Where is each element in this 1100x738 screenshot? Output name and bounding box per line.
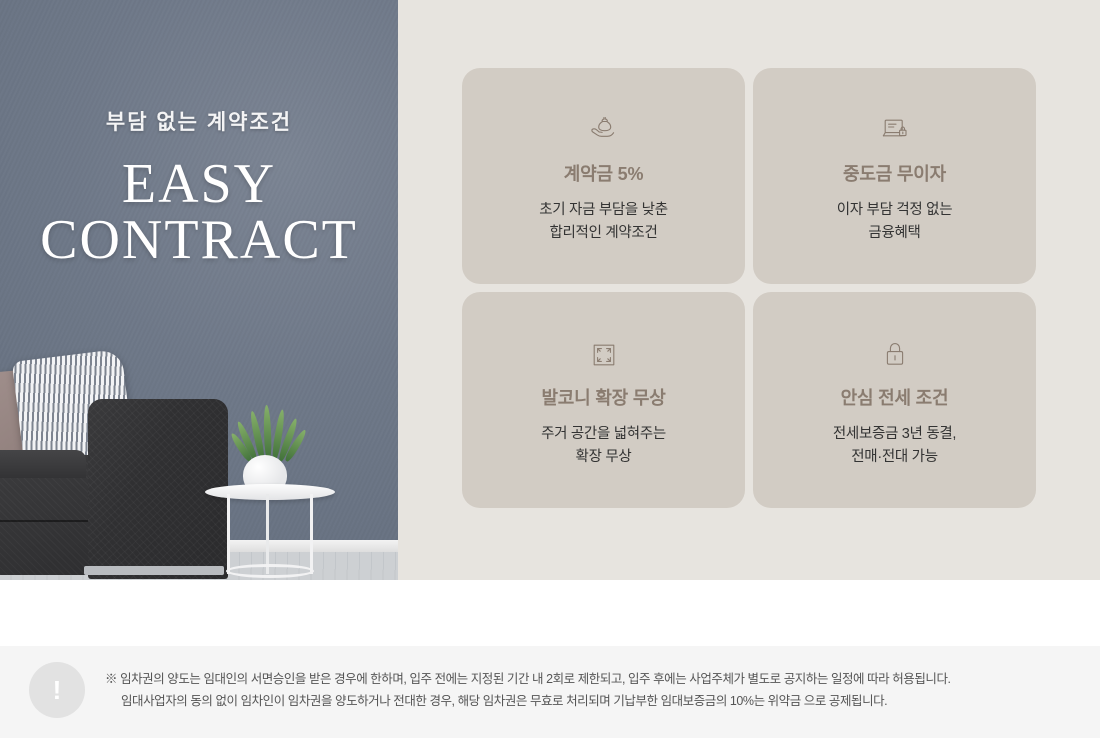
card-row: 발코니 확장 무상 주거 공간을 넓혀주는 확장 무상 안심 전: [462, 292, 1036, 508]
card-row: 계약금 5% 초기 자금 부담을 낮춘 합리적인 계약조건: [462, 68, 1036, 284]
laptop-lock-icon: [880, 114, 910, 144]
side-table-top: [205, 484, 335, 500]
disclaimer-text: ※ 임차권의 양도는 임대인의 서면승인을 받은 경우에 한하며, 입주 전에는…: [105, 668, 1065, 712]
hero-title-line2: CONTRACT: [0, 212, 398, 268]
feature-card-interest-free[interactable]: 중도금 무이자 이자 부담 걱정 없는 금융혜택: [753, 68, 1036, 284]
padlock-icon: [882, 338, 908, 368]
card-description: 전세보증금 3년 동결, 전매·전대 가능: [833, 423, 956, 469]
card-desc-line1: 초기 자금 부담을 낮춘: [539, 199, 668, 222]
expand-arrows-icon: [591, 338, 617, 368]
sofa-base: [84, 566, 224, 575]
card-description: 주거 공간을 넓혀주는 확장 무상: [541, 423, 666, 469]
feature-card-grid: 계약금 5% 초기 자금 부담을 낮춘 합리적인 계약조건: [462, 68, 1036, 508]
disclaimer-line-2: 임대사업자의 동의 없이 임차인이 임차권을 양도하거나 전대한 경우, 해당 …: [105, 690, 1065, 712]
hero-photo-panel: 부담 없는 계약조건 EASY CONTRACT: [0, 0, 398, 580]
money-bag-hand-icon: [589, 114, 619, 144]
card-desc-line2: 확장 무상: [541, 446, 666, 469]
card-desc-line1: 이자 부담 걱정 없는: [837, 199, 953, 222]
sofa-seam: [0, 520, 90, 522]
card-desc-line1: 전세보증금 3년 동결,: [833, 423, 956, 446]
card-desc-line2: 금융혜택: [837, 222, 953, 245]
sofa-arm: [0, 450, 86, 478]
card-desc-line1: 주거 공간을 넓혀주는: [541, 423, 666, 446]
card-description: 이자 부담 걱정 없는 금융혜택: [837, 199, 953, 245]
card-title: 안심 전세 조건: [841, 384, 949, 410]
card-title: 계약금 5%: [564, 160, 644, 186]
hero-kicker: 부담 없는 계약조건: [0, 106, 398, 136]
hero-title-line1: EASY: [0, 156, 398, 212]
side-table-leg: [266, 494, 269, 574]
exclamation-icon: !: [29, 662, 85, 718]
disclaimer-line-1: ※ 임차권의 양도는 임대인의 서면승인을 받은 경우에 한하며, 입주 전에는…: [105, 668, 1065, 690]
feature-card-contract-deposit[interactable]: 계약금 5% 초기 자금 부담을 낮춘 합리적인 계약조건: [462, 68, 745, 284]
feature-card-balcony-expansion[interactable]: 발코니 확장 무상 주거 공간을 넓혀주는 확장 무상: [462, 292, 745, 508]
side-table-leg: [310, 494, 313, 574]
top-section: 부담 없는 계약조건 EASY CONTRACT: [0, 0, 1100, 580]
hero-title: EASY CONTRACT: [0, 156, 398, 268]
card-title: 발코니 확장 무상: [541, 384, 665, 410]
page-root: 부담 없는 계약조건 EASY CONTRACT: [0, 0, 1100, 738]
card-description: 초기 자금 부담을 낮춘 합리적인 계약조건: [539, 199, 668, 245]
card-title: 중도금 무이자: [843, 160, 946, 186]
hero-copy: 부담 없는 계약조건 EASY CONTRACT: [0, 106, 398, 268]
side-table-leg: [227, 494, 230, 574]
feature-card-safe-jeonse[interactable]: 안심 전세 조건 전세보증금 3년 동결, 전매·전대 가능: [753, 292, 1036, 508]
side-table-ring: [226, 564, 314, 578]
card-desc-line2: 합리적인 계약조건: [539, 222, 668, 245]
card-desc-line2: 전매·전대 가능: [833, 446, 956, 469]
